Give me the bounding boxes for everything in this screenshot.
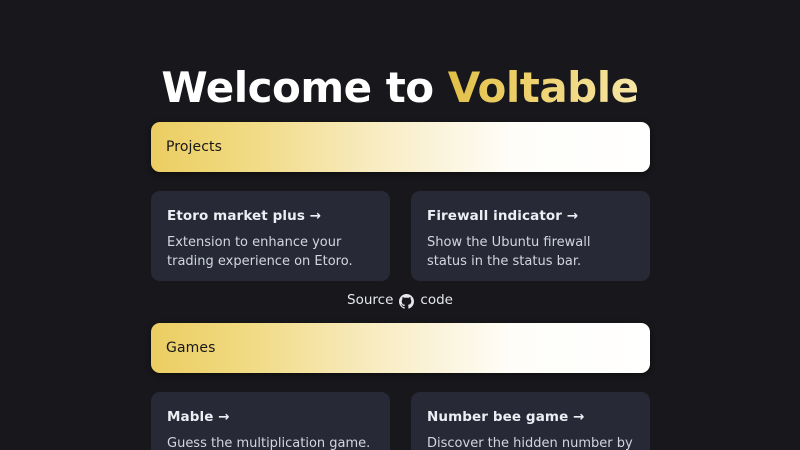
github-icon bbox=[399, 294, 414, 309]
game-card[interactable]: Number bee game → Discover the hidden nu… bbox=[411, 392, 650, 450]
section-banner-projects[interactable]: Projects bbox=[151, 122, 650, 172]
section-label-games: Games bbox=[166, 339, 215, 357]
card-title: Firewall indicator → bbox=[427, 208, 634, 225]
card-grid-projects: Etoro market plus → Extension to enhance… bbox=[151, 191, 650, 281]
project-card[interactable]: Etoro market plus → Extension to enhance… bbox=[151, 191, 390, 281]
card-description: Guess the multiplication game. bbox=[167, 434, 374, 450]
source-code-link[interactable]: Source code bbox=[0, 291, 800, 309]
card-grid-games: Mable → Guess the multiplication game. N… bbox=[151, 392, 650, 450]
section-banner-games[interactable]: Games bbox=[151, 323, 650, 373]
card-description: Extension to enhance your trading experi… bbox=[167, 233, 374, 271]
card-title: Etoro market plus → bbox=[167, 208, 374, 225]
card-title: Number bee game → bbox=[427, 409, 634, 426]
page-title: Welcome to Voltable bbox=[0, 60, 800, 116]
project-card[interactable]: Firewall indicator → Show the Ubuntu fir… bbox=[411, 191, 650, 281]
card-description: Discover the hidden number by bbox=[427, 434, 634, 450]
card-title: Mable → bbox=[167, 409, 374, 426]
page-title-prefix: Welcome to bbox=[161, 63, 447, 112]
source-code-label-after: code bbox=[420, 291, 453, 309]
welcome-page: Welcome to Voltable Projects Etoro marke… bbox=[0, 0, 800, 450]
brand-name: Voltable bbox=[448, 63, 639, 112]
section-label-projects: Projects bbox=[166, 138, 222, 156]
card-description: Show the Ubuntu firewall status in the s… bbox=[427, 233, 634, 271]
game-card[interactable]: Mable → Guess the multiplication game. bbox=[151, 392, 390, 450]
source-code-label-before: Source bbox=[347, 291, 393, 309]
